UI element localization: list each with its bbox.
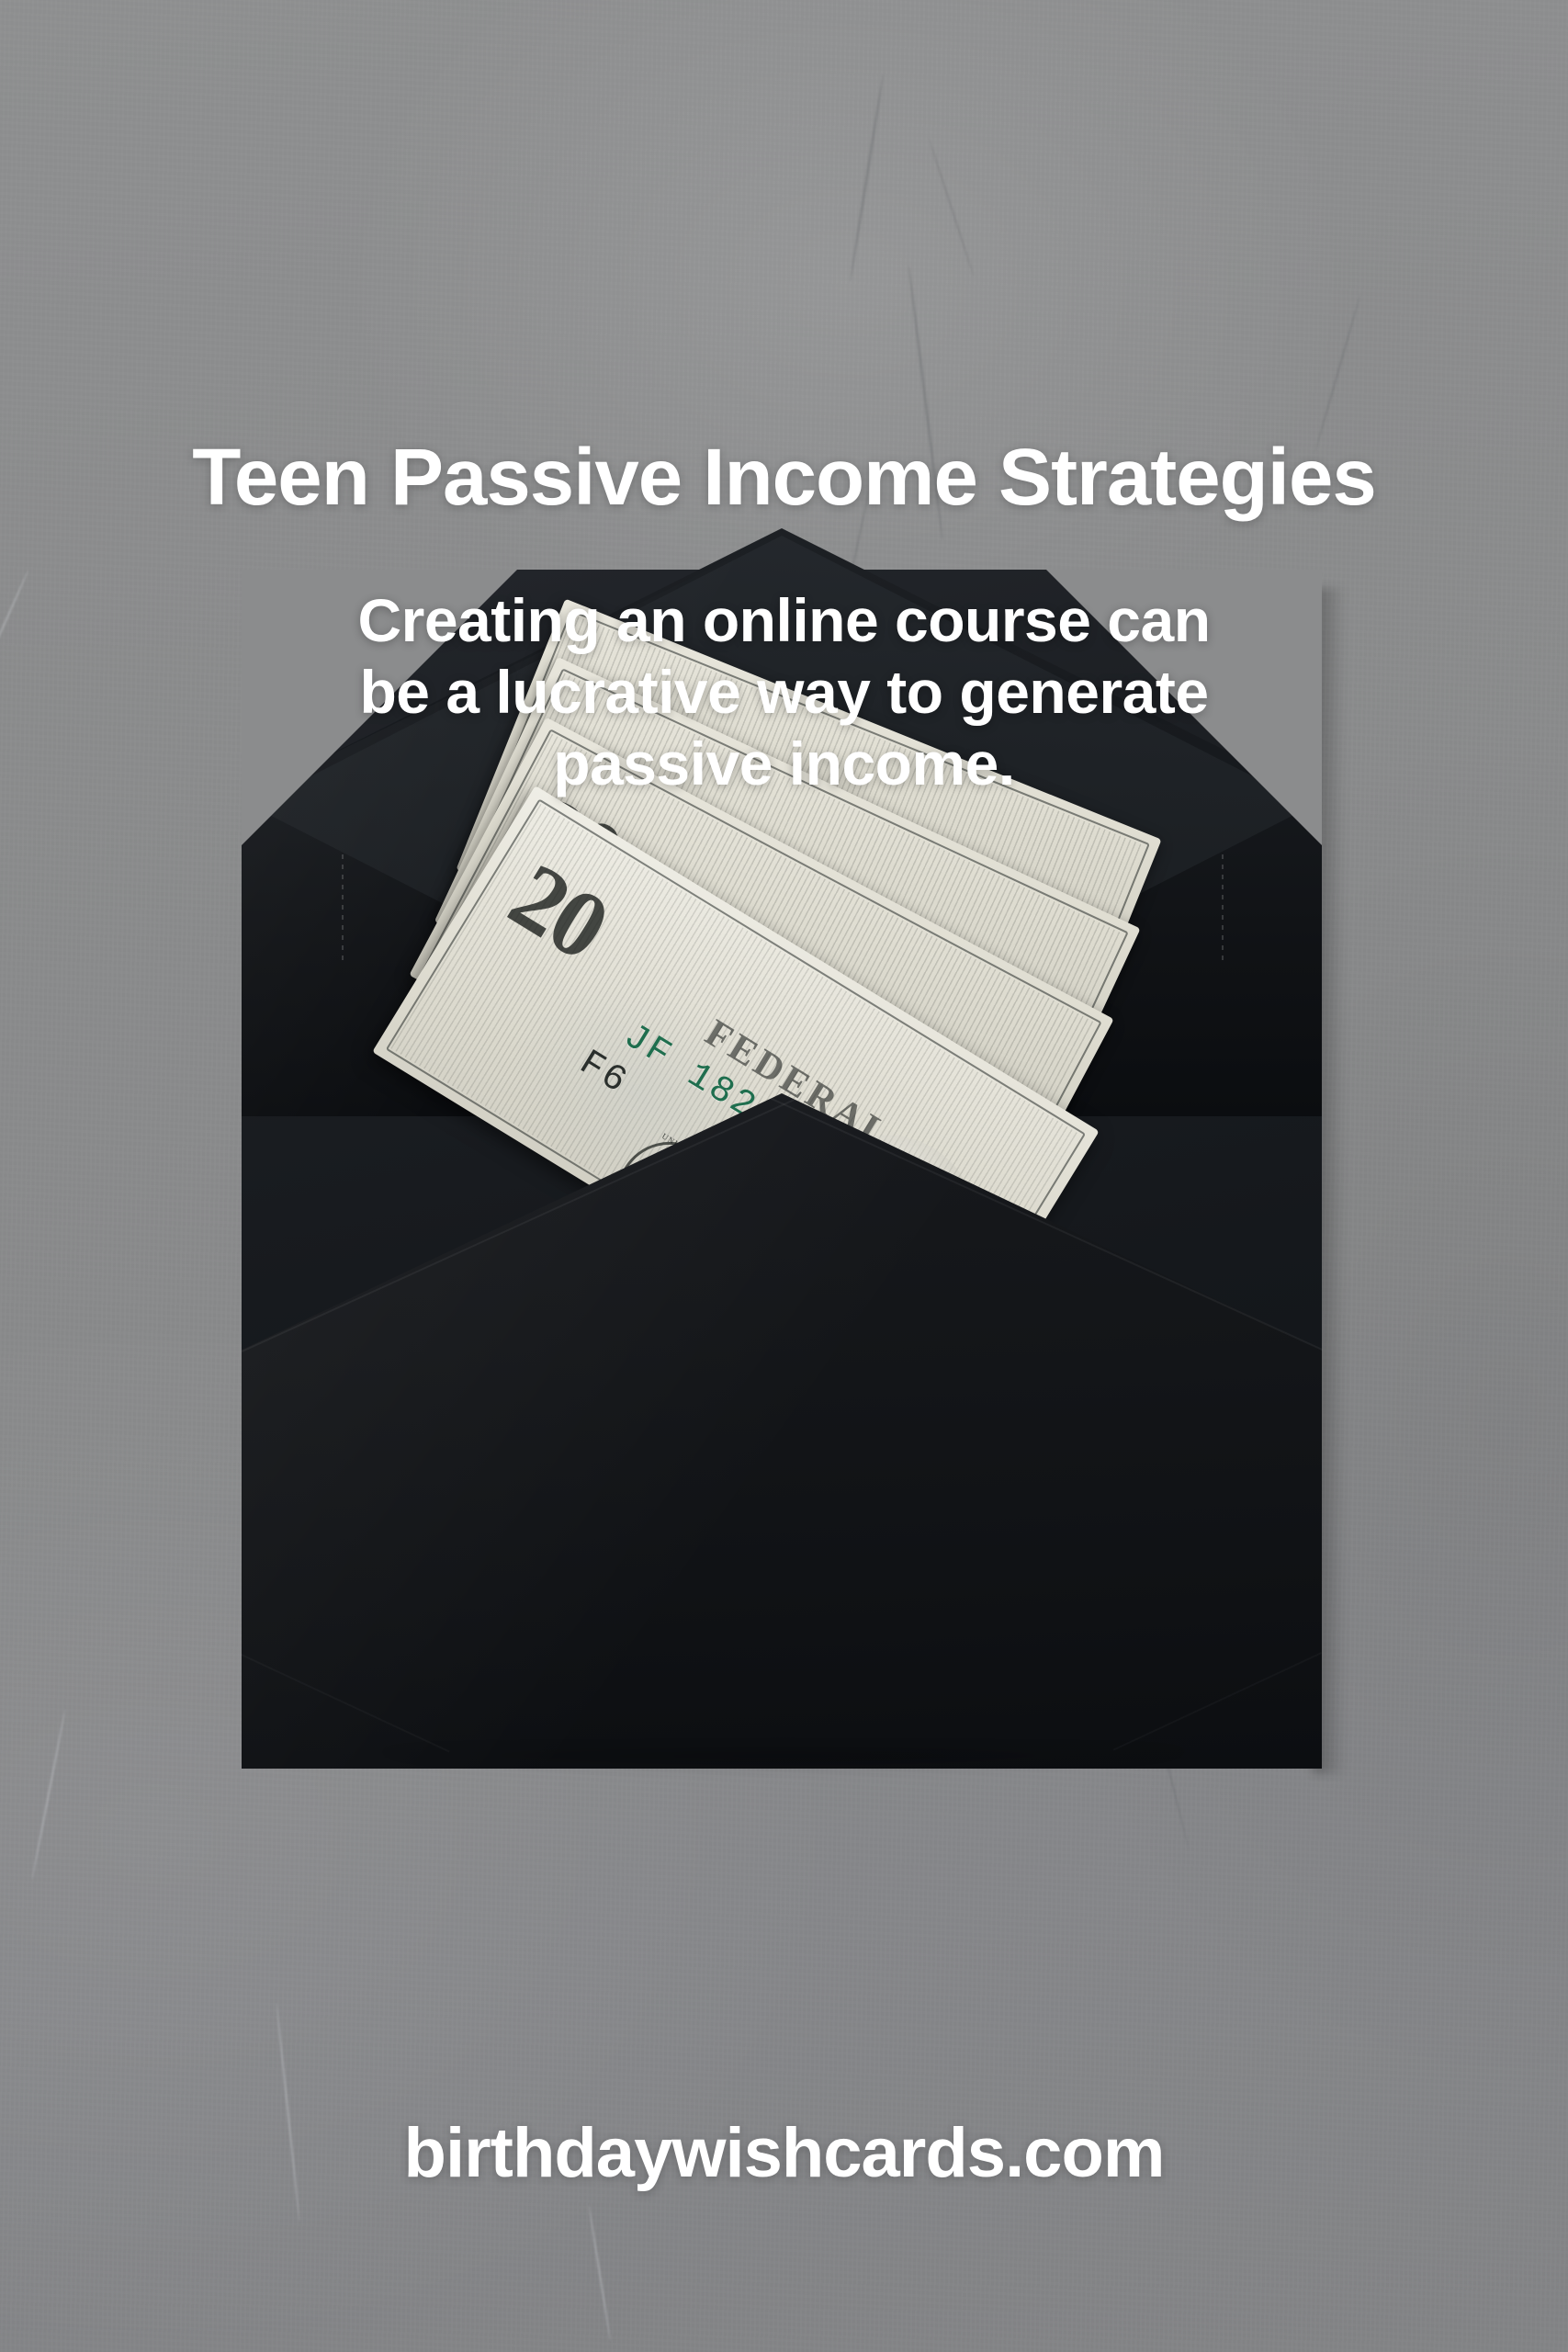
pin-subtitle-line-1: Creating an online course can <box>110 584 1458 656</box>
pinterest-pin-image: 20 FEDERAL 20 FEDERAL 20 FEDERAL <box>0 0 1568 2352</box>
envelope-photo: 20 FEDERAL 20 FEDERAL 20 FEDERAL <box>0 0 1568 2352</box>
pin-title: Teen Passive Income Strategies <box>0 437 1568 517</box>
pin-footer-url: birthdaywishcards.com <box>0 2119 1568 2188</box>
envelope-drop-shadow <box>230 1750 1337 1805</box>
pin-subtitle-line-2: be a lucrative way to generate <box>110 656 1458 728</box>
pin-subtitle: Creating an online course can be a lucra… <box>0 584 1568 799</box>
pin-subtitle-line-3: passive income. <box>110 728 1458 799</box>
